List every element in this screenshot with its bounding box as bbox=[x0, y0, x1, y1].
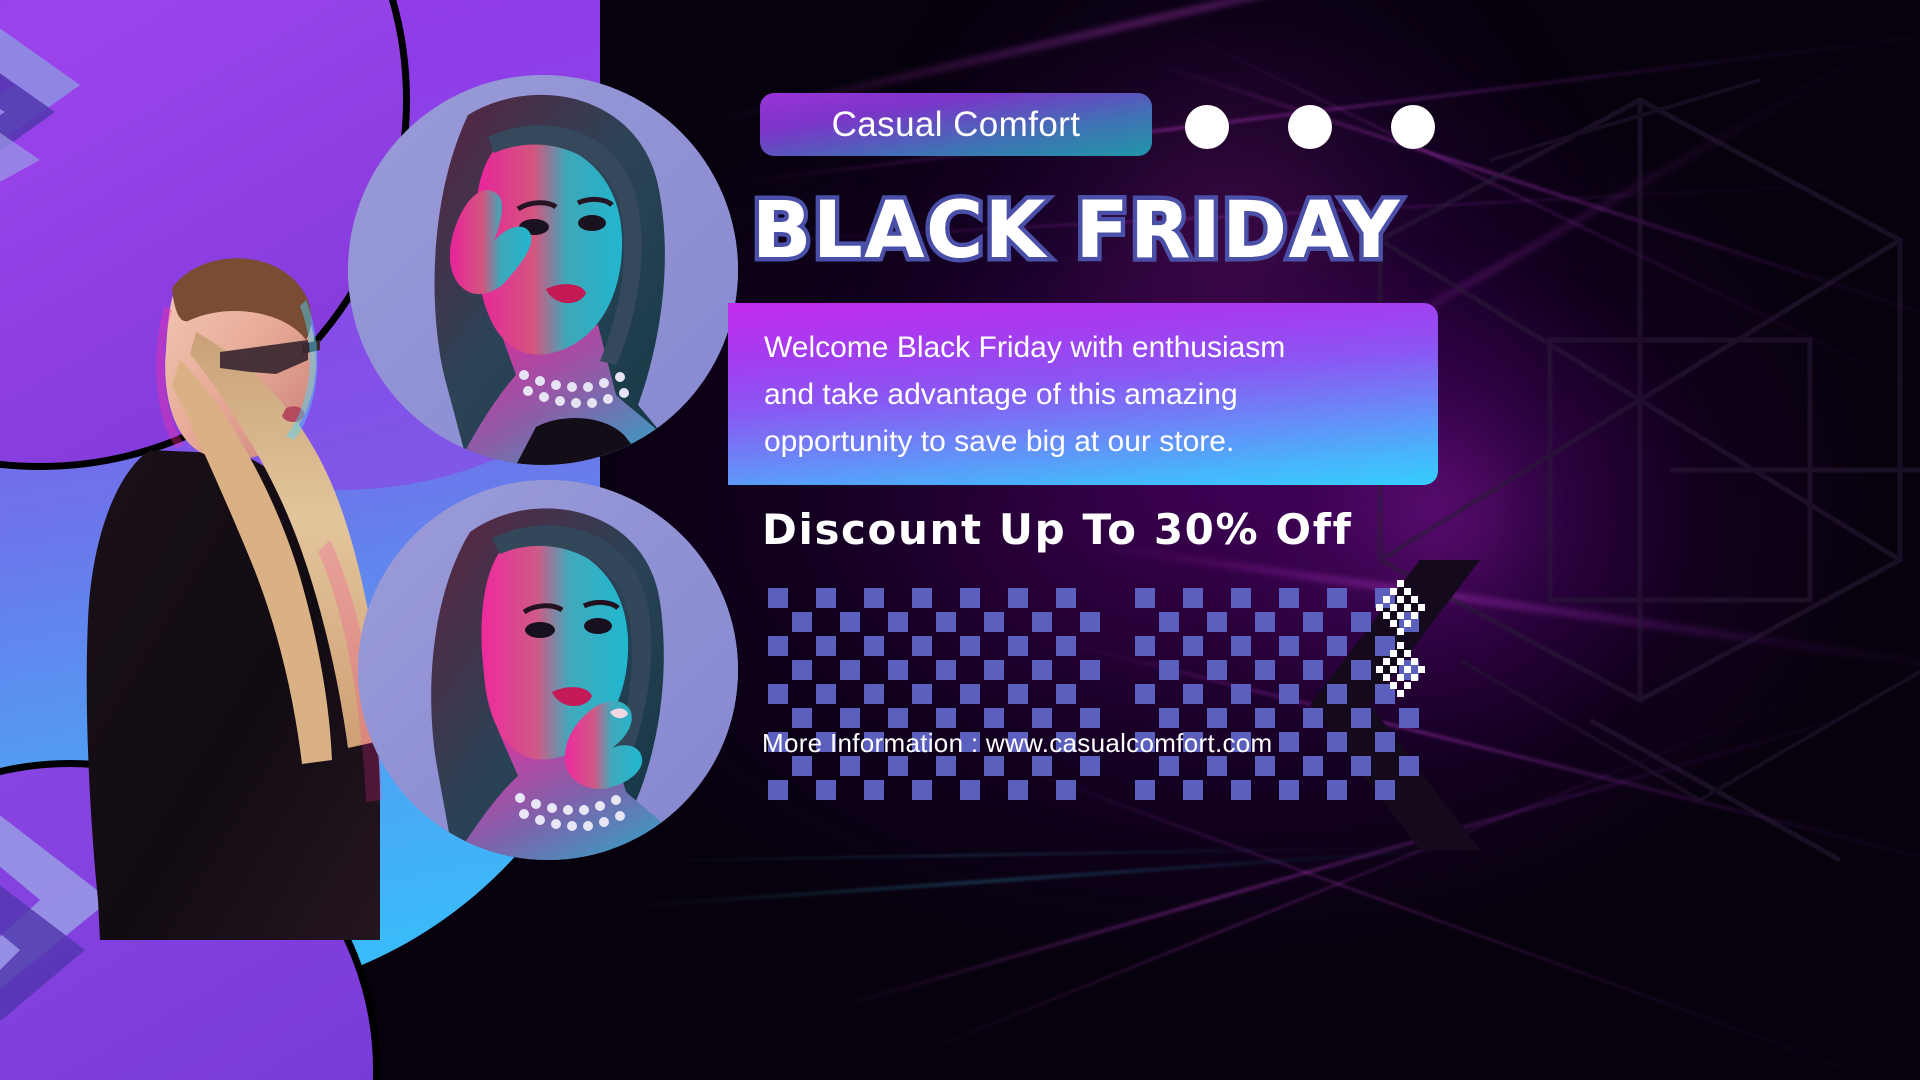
checker-cell bbox=[1159, 708, 1179, 728]
checker-cell bbox=[1303, 636, 1323, 656]
checker-cell bbox=[1135, 756, 1155, 776]
checker-cell bbox=[1008, 612, 1028, 632]
checker-cell bbox=[1056, 636, 1076, 656]
checker-cell bbox=[840, 588, 860, 608]
checker-cell bbox=[1056, 708, 1076, 728]
checker-cell bbox=[960, 612, 980, 632]
checker-cell bbox=[1080, 708, 1100, 728]
checker-cell bbox=[984, 708, 1004, 728]
checker-cell bbox=[960, 684, 980, 704]
checker-cell bbox=[912, 756, 932, 776]
checker-cell bbox=[1183, 780, 1203, 800]
checker-cell bbox=[936, 660, 956, 680]
checker-cell bbox=[1255, 612, 1275, 632]
more-information-text[interactable]: More Information : www.casualcomfort.com bbox=[762, 728, 1273, 759]
checker-cell bbox=[1327, 660, 1347, 680]
description-line-2: and take advantage of this amazing bbox=[764, 371, 1285, 418]
checker-cell bbox=[960, 780, 980, 800]
checker-cell bbox=[936, 588, 956, 608]
checker-cell bbox=[816, 756, 836, 776]
checker-cell bbox=[1207, 780, 1227, 800]
checker-cell bbox=[1351, 732, 1371, 752]
checker-cell bbox=[984, 684, 1004, 704]
checker-cell bbox=[1008, 660, 1028, 680]
checker-cell bbox=[1032, 660, 1052, 680]
checker-cell bbox=[1375, 708, 1395, 728]
checker-cell bbox=[768, 660, 788, 680]
checker-cell bbox=[1255, 660, 1275, 680]
checker-cell bbox=[1135, 780, 1155, 800]
checker-cell bbox=[1080, 588, 1100, 608]
checker-cell bbox=[1303, 780, 1323, 800]
checker-cell bbox=[1303, 732, 1323, 752]
checker-cell bbox=[1159, 588, 1179, 608]
checker-cell bbox=[864, 636, 884, 656]
checker-cell bbox=[864, 708, 884, 728]
checker-cell bbox=[1056, 780, 1076, 800]
checker-cell bbox=[1159, 612, 1179, 632]
checker-cell bbox=[888, 684, 908, 704]
checker-cell bbox=[984, 756, 1004, 776]
checker-cell bbox=[1207, 612, 1227, 632]
checker-cell bbox=[1303, 708, 1323, 728]
checker-cell bbox=[1279, 660, 1299, 680]
checker-cell bbox=[1183, 684, 1203, 704]
checker-cell bbox=[1375, 756, 1395, 776]
checker-cell bbox=[1279, 588, 1299, 608]
checker-cell bbox=[1056, 660, 1076, 680]
checker-cell bbox=[1159, 780, 1179, 800]
checker-cell bbox=[1375, 780, 1395, 800]
checker-cell bbox=[984, 660, 1004, 680]
checker-cell bbox=[1159, 660, 1179, 680]
checker-cell bbox=[792, 588, 812, 608]
checker-cell bbox=[840, 612, 860, 632]
checker-cell bbox=[1279, 636, 1299, 656]
checker-cell bbox=[1008, 588, 1028, 608]
checker-cell bbox=[912, 636, 932, 656]
checker-decoration-group bbox=[768, 588, 1419, 800]
checker-cell bbox=[792, 636, 812, 656]
checker-cell bbox=[1303, 660, 1323, 680]
dot-group bbox=[1185, 105, 1435, 149]
checker-cell bbox=[984, 780, 1004, 800]
checker-cell bbox=[936, 708, 956, 728]
checker-cell bbox=[888, 780, 908, 800]
checker-cell bbox=[1008, 708, 1028, 728]
checker-cell bbox=[792, 780, 812, 800]
checker-cell bbox=[984, 588, 1004, 608]
checker-cell bbox=[912, 612, 932, 632]
checker-cell bbox=[792, 612, 812, 632]
checker-cell bbox=[1399, 732, 1419, 752]
checker-cell bbox=[864, 756, 884, 776]
checker-cell bbox=[840, 780, 860, 800]
checker-cell bbox=[1032, 684, 1052, 704]
checker-cell bbox=[1231, 756, 1251, 776]
checker-cell bbox=[1183, 636, 1203, 656]
checker-cell bbox=[1183, 612, 1203, 632]
checker-cell bbox=[984, 636, 1004, 656]
checker-cell bbox=[864, 660, 884, 680]
checker-cell bbox=[1255, 708, 1275, 728]
checker-cell bbox=[792, 708, 812, 728]
checker-cell bbox=[816, 660, 836, 680]
checker-cell bbox=[1032, 780, 1052, 800]
checker-cell bbox=[1327, 636, 1347, 656]
checker-cell bbox=[888, 660, 908, 680]
checker-cell bbox=[1207, 708, 1227, 728]
checker-cell bbox=[840, 684, 860, 704]
checker-cell bbox=[1159, 684, 1179, 704]
checker-cell bbox=[960, 708, 980, 728]
checker-cell bbox=[912, 588, 932, 608]
checker-cell bbox=[1279, 708, 1299, 728]
checker-cell bbox=[1032, 588, 1052, 608]
checker-cell bbox=[840, 660, 860, 680]
checker-cell bbox=[1135, 636, 1155, 656]
checker-cell bbox=[1231, 780, 1251, 800]
checker-cell bbox=[816, 612, 836, 632]
checker-cell bbox=[1327, 756, 1347, 776]
checker-cell bbox=[912, 708, 932, 728]
checker-cell bbox=[1327, 684, 1347, 704]
checker-cell bbox=[792, 756, 812, 776]
checker-cell bbox=[1135, 612, 1155, 632]
checker-cell bbox=[1183, 660, 1203, 680]
checker-cell bbox=[1327, 732, 1347, 752]
checker-cell bbox=[864, 612, 884, 632]
checker-cell bbox=[1327, 780, 1347, 800]
description-text: Welcome Black Friday with enthusiasm and… bbox=[728, 324, 1303, 465]
checker-cell bbox=[864, 780, 884, 800]
checker-cell bbox=[1056, 756, 1076, 776]
checker-cell bbox=[936, 636, 956, 656]
checker-cell bbox=[768, 708, 788, 728]
content-column: Casual Comfort BLACK FRIDAY BLACK FRIDAY… bbox=[0, 0, 1920, 1080]
checker-cell bbox=[1231, 636, 1251, 656]
checker-cell bbox=[816, 588, 836, 608]
checker-cell bbox=[1008, 756, 1028, 776]
checker-cell bbox=[1080, 756, 1100, 776]
page-title: BLACK FRIDAY bbox=[752, 188, 1452, 274]
checker-cell bbox=[1279, 732, 1299, 752]
dot-icon bbox=[1288, 105, 1332, 149]
checker-cell bbox=[1303, 612, 1323, 632]
brand-badge-label: Casual Comfort bbox=[832, 105, 1081, 145]
checker-cell bbox=[1255, 588, 1275, 608]
checker-cell bbox=[936, 684, 956, 704]
checker-cell bbox=[888, 588, 908, 608]
checker-cell bbox=[1231, 708, 1251, 728]
checker-cell bbox=[1303, 684, 1323, 704]
checker-cell bbox=[1080, 684, 1100, 704]
checker-cell bbox=[984, 612, 1004, 632]
checker-cell bbox=[912, 684, 932, 704]
checker-cell bbox=[1008, 780, 1028, 800]
checker-cell bbox=[1080, 636, 1100, 656]
checker-cell bbox=[864, 684, 884, 704]
checker-cell bbox=[1159, 756, 1179, 776]
checker-cell bbox=[1279, 756, 1299, 776]
checker-cell bbox=[1351, 756, 1371, 776]
checker-cell bbox=[816, 780, 836, 800]
checker-cell bbox=[840, 636, 860, 656]
checker-cell bbox=[1008, 684, 1028, 704]
checker-cell bbox=[1327, 708, 1347, 728]
checker-cell bbox=[816, 708, 836, 728]
checker-cell bbox=[1399, 756, 1419, 776]
dot-icon bbox=[1391, 105, 1435, 149]
checker-cell bbox=[1135, 660, 1155, 680]
discount-headline: Discount Up To 30% Off bbox=[762, 505, 1352, 554]
checker-cell bbox=[1231, 660, 1251, 680]
checker-cell bbox=[960, 588, 980, 608]
checker-cell bbox=[816, 684, 836, 704]
checker-cell bbox=[1255, 780, 1275, 800]
checker-cell bbox=[1375, 732, 1395, 752]
brand-badge[interactable]: Casual Comfort bbox=[760, 93, 1152, 156]
checker-cell bbox=[960, 756, 980, 776]
checker-cell bbox=[1279, 780, 1299, 800]
checker-cell bbox=[1135, 708, 1155, 728]
checker-cell bbox=[1056, 588, 1076, 608]
checker-cell bbox=[864, 588, 884, 608]
checker-cell bbox=[1183, 756, 1203, 776]
checker-cell bbox=[936, 756, 956, 776]
checker-cell bbox=[1135, 684, 1155, 704]
checker-cell bbox=[888, 612, 908, 632]
checker-cell bbox=[888, 708, 908, 728]
checker-cell bbox=[1080, 612, 1100, 632]
checker-cell bbox=[960, 636, 980, 656]
checker-cell bbox=[1327, 612, 1347, 632]
checker-cell bbox=[1399, 708, 1419, 728]
checker-cell bbox=[816, 636, 836, 656]
checker-cell bbox=[1207, 588, 1227, 608]
checker-cell bbox=[1032, 636, 1052, 656]
checker-cell bbox=[1351, 780, 1371, 800]
description-line-3: opportunity to save big at our store. bbox=[764, 418, 1285, 465]
checker-cell bbox=[1207, 756, 1227, 776]
checker-cell bbox=[768, 612, 788, 632]
checker-cell bbox=[1159, 636, 1179, 656]
checker-cell bbox=[1255, 756, 1275, 776]
checker-cell bbox=[1080, 780, 1100, 800]
checker-cell bbox=[1032, 612, 1052, 632]
checker-cell bbox=[1279, 612, 1299, 632]
checker-cell bbox=[1080, 660, 1100, 680]
checker-cell bbox=[768, 636, 788, 656]
promo-banner: Casual Comfort BLACK FRIDAY BLACK FRIDAY… bbox=[0, 0, 1920, 1080]
checker-cell bbox=[1207, 684, 1227, 704]
checker-cell bbox=[1303, 756, 1323, 776]
checker-cell bbox=[888, 756, 908, 776]
checker-cell bbox=[768, 780, 788, 800]
checker-cell bbox=[912, 780, 932, 800]
checker-cell bbox=[1231, 588, 1251, 608]
checker-cell bbox=[1135, 588, 1155, 608]
checker-cell bbox=[912, 660, 932, 680]
checker-cell bbox=[1056, 612, 1076, 632]
checker-cell bbox=[1207, 660, 1227, 680]
description-panel: Welcome Black Friday with enthusiasm and… bbox=[728, 303, 1438, 485]
checker-cell bbox=[1255, 684, 1275, 704]
checker-pattern-icon bbox=[768, 588, 1100, 800]
checker-cell bbox=[1399, 780, 1419, 800]
checker-cell bbox=[792, 660, 812, 680]
checker-cell bbox=[1032, 756, 1052, 776]
checker-cell bbox=[1327, 588, 1347, 608]
checker-cell bbox=[936, 612, 956, 632]
diamond-icon bbox=[1368, 580, 1434, 700]
checker-cell bbox=[768, 684, 788, 704]
checker-cell bbox=[1303, 588, 1323, 608]
checker-cell bbox=[768, 756, 788, 776]
checker-cell bbox=[1255, 636, 1275, 656]
checker-cell bbox=[960, 660, 980, 680]
checker-cell bbox=[1351, 708, 1371, 728]
dot-icon bbox=[1185, 105, 1229, 149]
checker-cell bbox=[1231, 684, 1251, 704]
description-line-1: Welcome Black Friday with enthusiasm bbox=[764, 324, 1285, 371]
checker-cell bbox=[1008, 636, 1028, 656]
checker-cell bbox=[1183, 588, 1203, 608]
checker-cell bbox=[840, 756, 860, 776]
checker-cell bbox=[792, 684, 812, 704]
checker-cell bbox=[1231, 612, 1251, 632]
checker-cell bbox=[1032, 708, 1052, 728]
checker-cell bbox=[1207, 636, 1227, 656]
checker-cell bbox=[1183, 708, 1203, 728]
checker-cell bbox=[840, 708, 860, 728]
checker-cell bbox=[1279, 684, 1299, 704]
checker-cell bbox=[936, 780, 956, 800]
checker-cell bbox=[1056, 684, 1076, 704]
checker-cell bbox=[888, 636, 908, 656]
checker-cell bbox=[768, 588, 788, 608]
